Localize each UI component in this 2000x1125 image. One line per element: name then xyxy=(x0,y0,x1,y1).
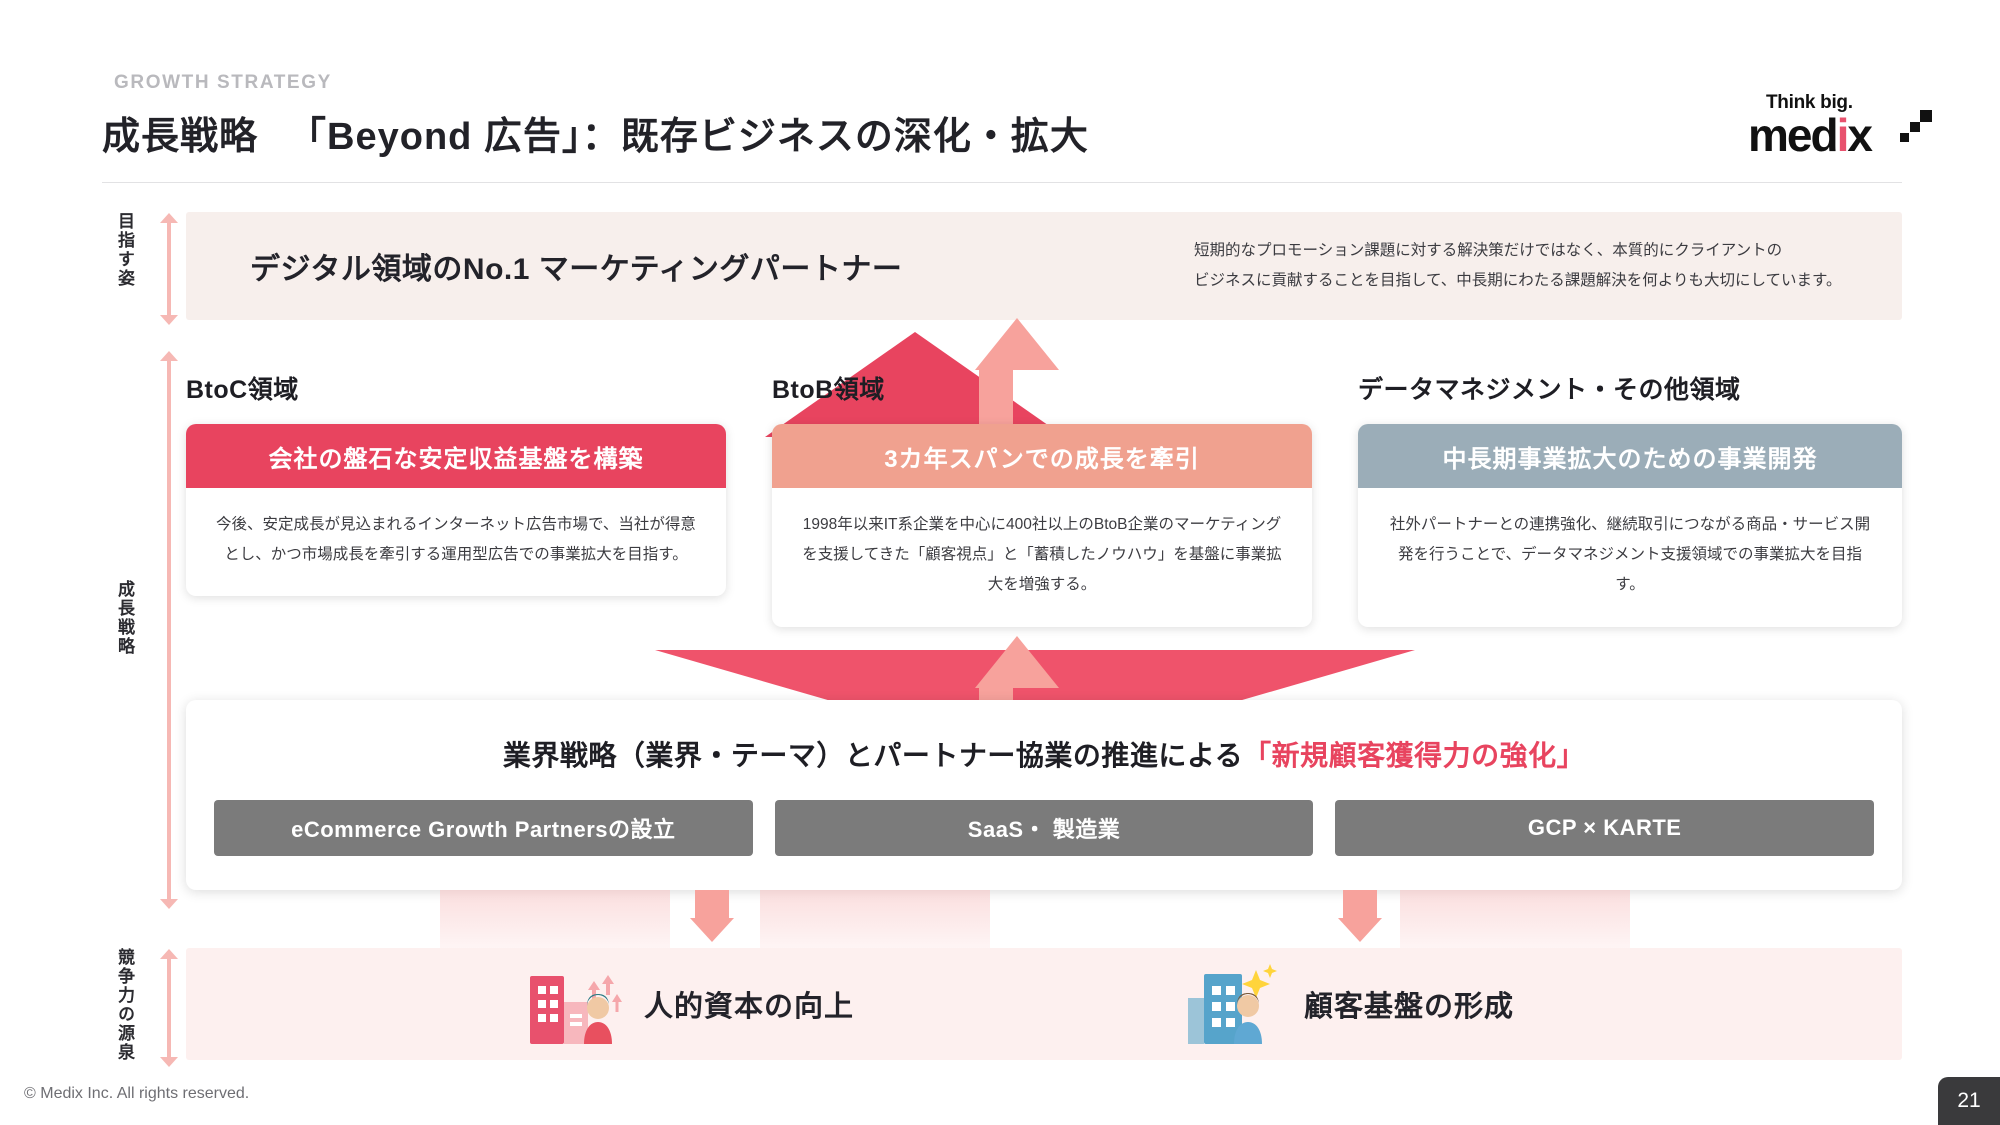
strategy-headline: 業界戦略（業界・テーマ）とパートナー協業の推進による「新規顧客獲得力の強化」 xyxy=(186,734,1902,774)
building-person-growth-icon xyxy=(526,962,622,1046)
column-body: 社外パートナーとの連携強化、継続取引につながる商品・サービス開発を行うことで、デ… xyxy=(1358,488,1902,627)
axis-source-label: 競争力の源泉 xyxy=(112,948,137,1068)
strategy-headline-plain: 業界戦略（業界・テーマ）とパートナー協業の推進による xyxy=(503,740,1243,771)
down-arrow-left xyxy=(690,890,734,942)
eyebrow-label: GROWTH STRATEGY xyxy=(114,72,332,94)
foundation-label: 顧客基盤の形成 xyxy=(1304,983,1514,1025)
column-card: 中長期事業拡大のための事業開発 社外パートナーとの連携強化、継続取引につながる商… xyxy=(1358,424,1902,627)
down-arrow-right xyxy=(1338,890,1382,942)
column-band: 会社の盤石な安定収益基盤を構築 xyxy=(186,424,726,488)
page-title: 成長戦略「Beyond 広告」：既存ビジネスの深化・拡大 xyxy=(102,105,1089,160)
axis-vision-label: 目指す姿 xyxy=(112,212,137,324)
column-heading: BtoC領域 xyxy=(186,370,726,406)
column-btoc: BtoC領域 会社の盤石な安定収益基盤を構築 今後、安定成長が見込まれるインター… xyxy=(186,370,726,596)
vision-description: 短期的なプロモーション課題に対する解決策だけではなく、本質的にクライアントの ビ… xyxy=(1194,212,1841,320)
axis-source-arrow xyxy=(167,958,171,1058)
column-heading: BtoB領域 xyxy=(772,370,1312,406)
logo-square-1 xyxy=(1920,110,1932,122)
page-title-part-1: 成長戦略 xyxy=(102,116,258,158)
axis-growth: 成長戦略 xyxy=(112,350,188,910)
strategy-pill-gcp-karte[interactable]: GCP × KARTE xyxy=(1335,800,1874,856)
strategy-panel: 業界戦略（業界・テーマ）とパートナー協業の推進による「新規顧客獲得力の強化」 e… xyxy=(186,700,1902,890)
column-card: 3カ年スパンでの成長を牽引 1998年以来IT系企業を中心に400社以上のBto… xyxy=(772,424,1312,627)
column-data-management: データマネジメント・その他領域 中長期事業拡大のための事業開発 社外パートナーと… xyxy=(1358,370,1902,627)
logo-brand-i: i xyxy=(1837,109,1848,161)
slide: GROWTH STRATEGY 成長戦略「Beyond 広告」：既存ビジネスの深… xyxy=(0,0,2000,1125)
logo-wordmark: medix xyxy=(1748,114,1928,158)
column-band: 3カ年スパンでの成長を牽引 xyxy=(772,424,1312,488)
building-person-sparkle-icon xyxy=(1186,962,1282,1046)
column-card: 会社の盤石な安定収益基盤を構築 今後、安定成長が見込まれるインターネット広告市場… xyxy=(186,424,726,596)
axis-growth-arrow xyxy=(167,360,171,900)
foundation-item-customer-base: 顧客基盤の形成 xyxy=(1186,962,1514,1046)
copyright-text: © Medix Inc. All rights reserved. xyxy=(24,1085,249,1103)
axis-source: 競争力の源泉 xyxy=(112,948,188,1068)
axis-growth-label: 成長戦略 xyxy=(112,580,137,656)
column-heading: データマネジメント・その他領域 xyxy=(1358,370,1902,406)
vision-desc-line-1: 短期的なプロモーション課題に対する解決策だけではなく、本質的にクライアントの xyxy=(1194,236,1841,266)
strategy-pill-ecommerce[interactable]: eCommerce Growth Partnersの設立 xyxy=(214,800,753,856)
foundation-band: 人的資本の向上 顧客基盤の形成 xyxy=(186,948,1902,1060)
vision-title: デジタル領域のNo.1 マーケティングパートナー xyxy=(250,212,902,320)
strategy-pill-list: eCommerce Growth Partnersの設立 SaaS・ 製造業 G… xyxy=(214,800,1874,856)
column-body: 1998年以来IT系企業を中心に400社以上のBtoB企業のマーケティングを支援… xyxy=(772,488,1312,627)
foundation-item-human-capital: 人的資本の向上 xyxy=(526,962,854,1046)
axis-vision-arrow xyxy=(167,222,171,316)
header-divider xyxy=(102,182,1902,183)
vision-desc-line-2: ビジネスに貢献することを目指して、中長期にわたる課題解決を何よりも大切にしていま… xyxy=(1194,266,1841,296)
page-title-part-2: 「Beyond 広告」：既存ビジネスの深化・拡大 xyxy=(288,116,1089,158)
column-band: 中長期事業拡大のための事業開発 xyxy=(1358,424,1902,488)
logo-brand-x: x xyxy=(1847,109,1871,161)
logo-square-2 xyxy=(1910,122,1920,132)
page-number-badge: 21 xyxy=(1938,1077,2000,1125)
strategy-pill-saas[interactable]: SaaS・ 製造業 xyxy=(775,800,1314,856)
strategy-headline-highlight: 「新規顧客獲得力の強化」 xyxy=(1243,740,1585,771)
column-btob: BtoB領域 3カ年スパンでの成長を牽引 1998年以来IT系企業を中心に400… xyxy=(772,370,1312,627)
axis-vision: 目指す姿 xyxy=(112,212,188,324)
column-body: 今後、安定成長が見込まれるインターネット広告市場で、当社が得意とし、かつ市場成長… xyxy=(186,488,726,596)
foundation-label: 人的資本の向上 xyxy=(644,983,854,1025)
logo-square-3 xyxy=(1900,133,1909,142)
medix-logo: Think big. medix xyxy=(1748,92,1928,158)
logo-brand-med: med xyxy=(1748,109,1837,161)
vision-band: デジタル領域のNo.1 マーケティングパートナー 短期的なプロモーション課題に対… xyxy=(186,212,1902,320)
